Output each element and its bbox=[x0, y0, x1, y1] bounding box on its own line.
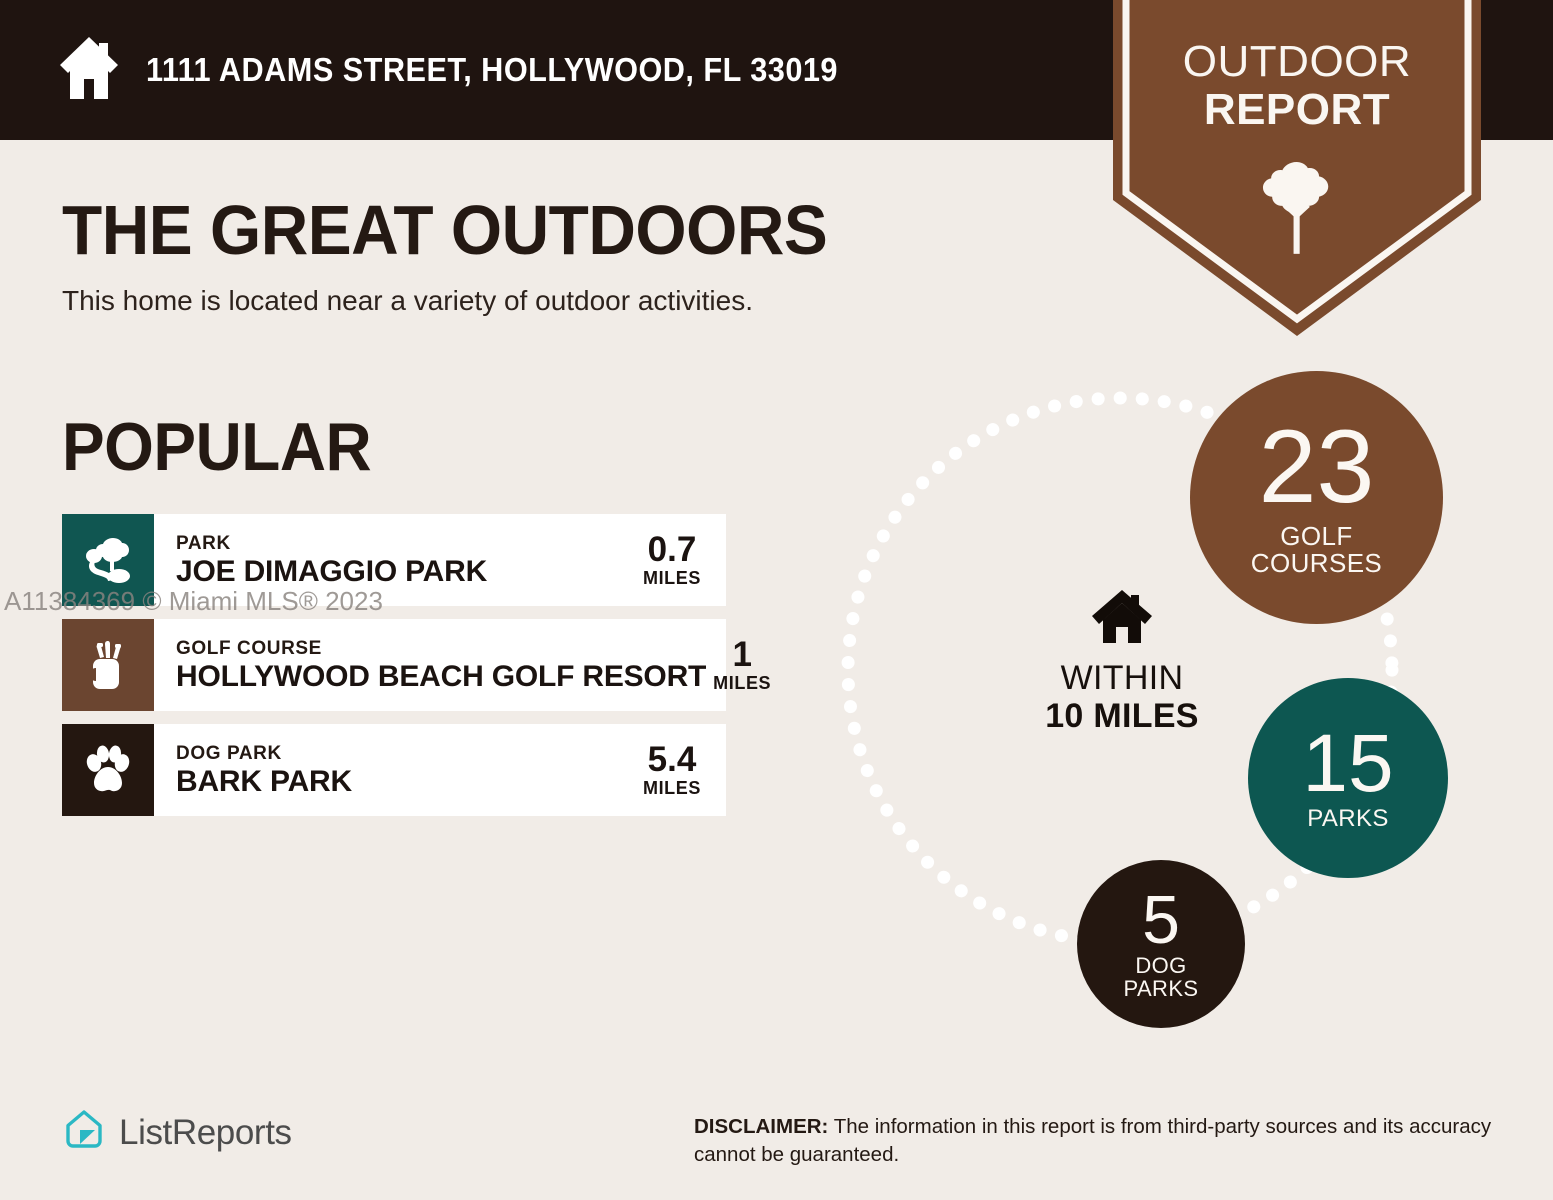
page-title: THE GREAT OUTDOORS bbox=[62, 190, 827, 270]
stat-bubble-dog-parks[interactable]: 5 DOG PARKS bbox=[1077, 860, 1245, 1028]
list-item[interactable]: DOG PARK BARK PARK 5.4 MILES bbox=[62, 724, 726, 816]
golf-courses-label: GOLF COURSES bbox=[1251, 523, 1382, 577]
list-item-text: GOLF COURSE HOLLYWOOD BEACH GOLF RESORT bbox=[176, 638, 706, 693]
list-item-body: GOLF COURSE HOLLYWOOD BEACH GOLF RESORT … bbox=[154, 619, 796, 711]
golf-bag-icon bbox=[62, 619, 154, 711]
listreports-logo-text: ListReports bbox=[119, 1113, 292, 1153]
list-item-name: HOLLYWOOD BEACH GOLF RESORT bbox=[176, 660, 706, 693]
distance-value: 5.4 bbox=[648, 742, 697, 778]
stat-bubble-golf-courses[interactable]: 23 GOLF COURSES bbox=[1190, 371, 1443, 624]
badge-line1: OUTDOOR bbox=[1183, 37, 1411, 86]
mls-watermark: A11384369 © Miami MLS® 2023 bbox=[4, 586, 383, 617]
list-item-category: GOLF COURSE bbox=[176, 638, 706, 660]
parks-count: 15 bbox=[1302, 725, 1393, 803]
list-item-category: DOG PARK bbox=[176, 743, 352, 765]
popular-list: PARK JOE DIMAGGIO PARK 0.7 MILES bbox=[62, 514, 726, 829]
badge-title: OUTDOOR REPORT bbox=[1113, 38, 1481, 134]
distance-unit: MILES bbox=[643, 778, 701, 799]
list-item-category: PARK bbox=[176, 533, 487, 555]
list-item-name: BARK PARK bbox=[176, 765, 352, 798]
house-icon bbox=[1091, 588, 1153, 649]
list-item-text: PARK JOE DIMAGGIO PARK bbox=[176, 533, 487, 588]
outdoor-report-page: 1111 ADAMS STREET, HOLLYWOOD, FL 33019 O… bbox=[0, 0, 1553, 1200]
within-10-miles-diagram: WITHIN 10 MILES 23 GOLF COURSES 15 PARKS… bbox=[760, 340, 1553, 1060]
outdoor-report-badge: OUTDOOR REPORT bbox=[1113, 0, 1481, 336]
stat-bubble-parks[interactable]: 15 PARKS bbox=[1248, 678, 1448, 878]
distance-value: 0.7 bbox=[648, 532, 697, 568]
distance-unit: MILES bbox=[643, 568, 701, 589]
list-item[interactable]: GOLF COURSE HOLLYWOOD BEACH GOLF RESORT … bbox=[62, 619, 726, 711]
badge-line2: REPORT bbox=[1113, 86, 1481, 134]
parks-label: PARKS bbox=[1307, 806, 1389, 831]
list-item-name: JOE DIMAGGIO PARK bbox=[176, 555, 487, 588]
golf-courses-count: 23 bbox=[1259, 418, 1375, 517]
diagram-center-label: WITHIN 10 MILES bbox=[1022, 588, 1222, 735]
within-label-line1: WITHIN bbox=[1061, 659, 1184, 697]
dog-parks-label: DOG PARKS bbox=[1124, 954, 1199, 1000]
list-item-distance: 0.7 MILES bbox=[636, 532, 708, 589]
popular-heading: POPULAR bbox=[62, 408, 371, 486]
disclaimer: DISCLAIMER: The information in this repo… bbox=[694, 1113, 1494, 1169]
dog-parks-count: 5 bbox=[1142, 888, 1180, 953]
disclaimer-label: DISCLAIMER: bbox=[694, 1115, 828, 1138]
paw-print-icon bbox=[62, 724, 154, 816]
list-item-body: DOG PARK BARK PARK 5.4 MILES bbox=[154, 724, 726, 816]
list-item-distance: 5.4 MILES bbox=[636, 742, 708, 799]
list-item-text: DOG PARK BARK PARK bbox=[176, 743, 352, 798]
listreports-house-icon bbox=[62, 1108, 106, 1157]
within-label-line2: 10 MILES bbox=[1045, 697, 1199, 735]
property-address: 1111 ADAMS STREET, HOLLYWOOD, FL 33019 bbox=[146, 51, 838, 89]
distance-value: 1 bbox=[732, 637, 751, 673]
house-icon bbox=[58, 35, 120, 106]
listreports-logo[interactable]: ListReports bbox=[62, 1108, 292, 1157]
page-subtitle: This home is located near a variety of o… bbox=[62, 285, 753, 317]
